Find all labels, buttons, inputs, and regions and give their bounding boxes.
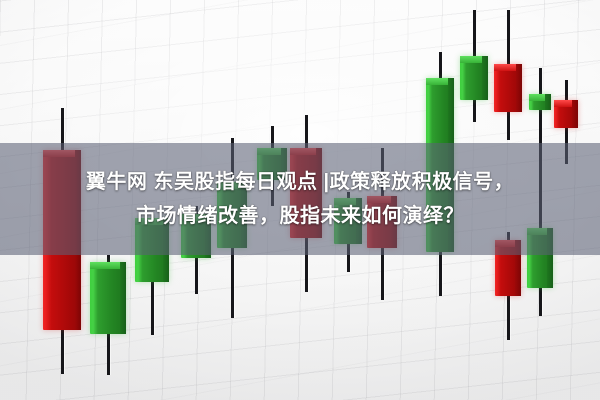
candle-10-up	[460, 10, 488, 122]
candle-body	[554, 100, 578, 128]
candlestick-banner: 翼牛网 东吴股指每日观点 |政策释放积极信号， 市场情绪改善，股指未来如何演绎？	[0, 0, 600, 400]
candle-12-up	[529, 68, 551, 128]
title-line-1: 翼牛网 东吴股指每日观点 |政策释放积极信号，	[86, 167, 514, 197]
candle-body	[529, 94, 551, 110]
candle-body	[90, 262, 126, 334]
title-line-2: 市场情绪改善，股指未来如何演绎？	[136, 201, 464, 231]
candle-11-down	[494, 10, 522, 140]
title-overlay-band: 翼牛网 东吴股指每日观点 |政策释放积极信号， 市场情绪改善，股指未来如何演绎？	[0, 143, 600, 255]
candle-body	[460, 56, 488, 100]
candle-1-up	[90, 255, 126, 375]
candle-body	[494, 64, 522, 112]
